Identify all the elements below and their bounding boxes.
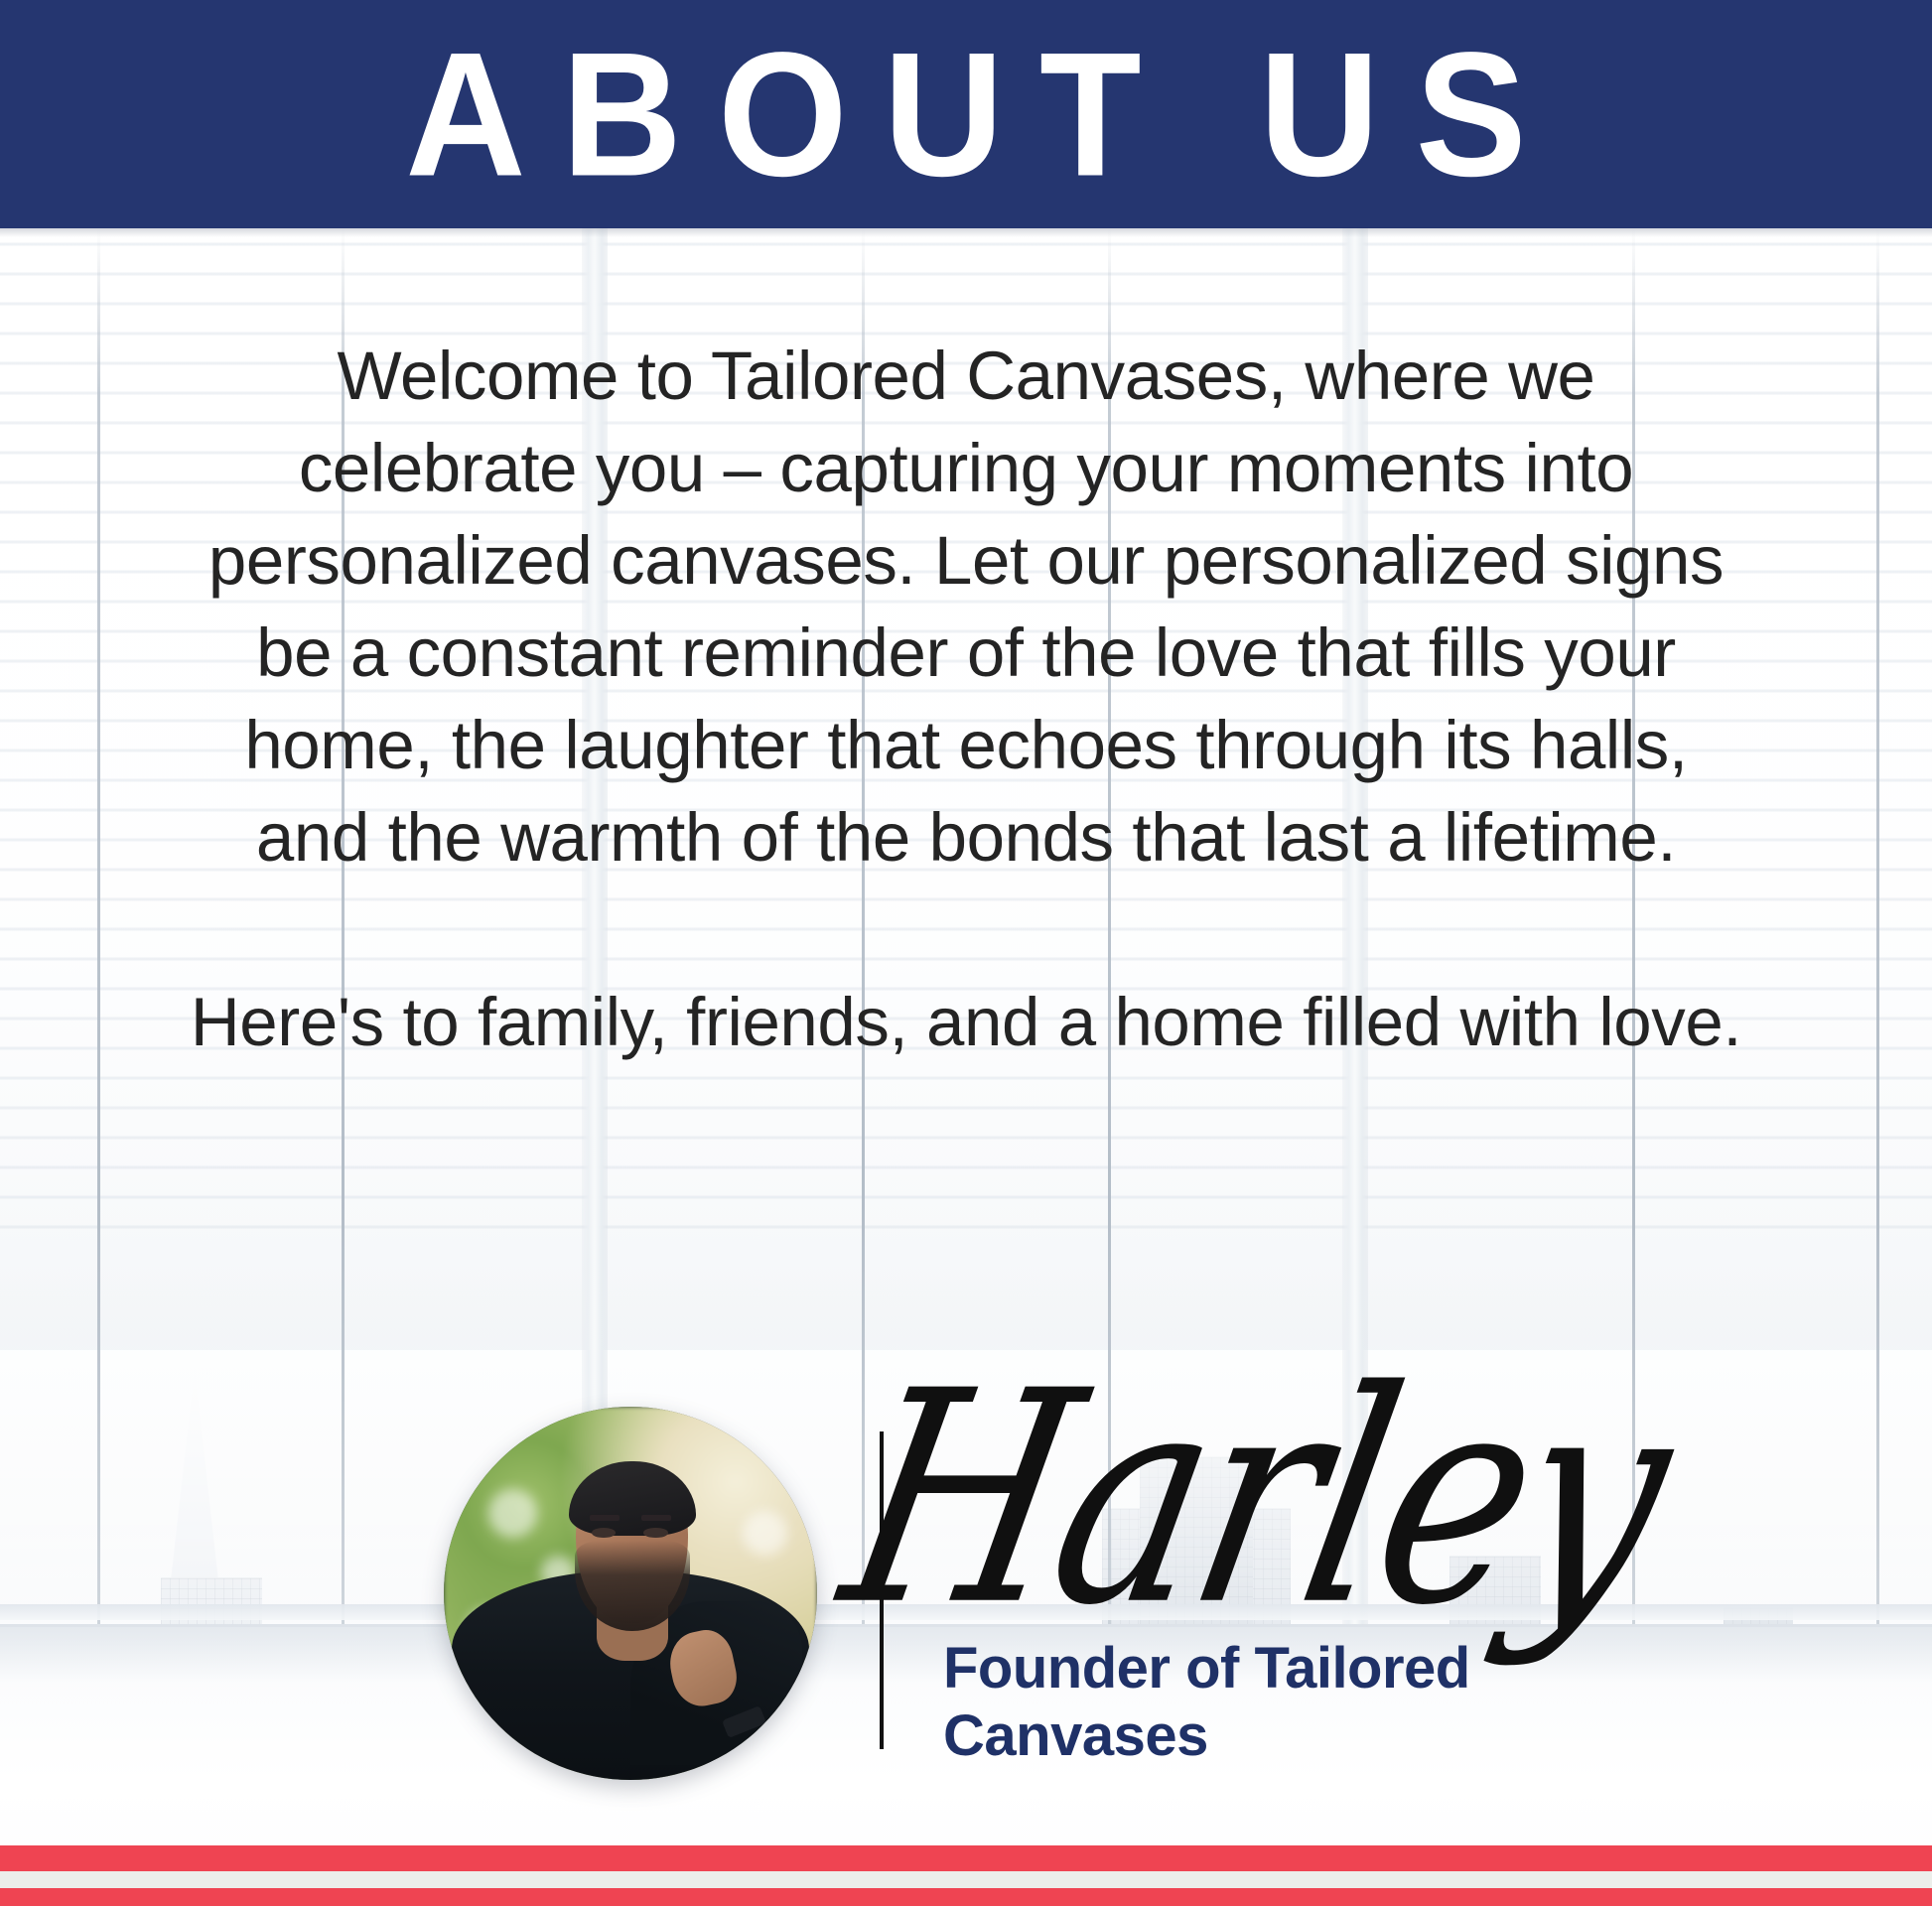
title-bar: ABOUT US — [0, 0, 1932, 228]
avatar-eye — [643, 1528, 667, 1538]
paragraph-1: Welcome to Tailored Canvases, where we c… — [189, 330, 1743, 884]
footer-accent-bar-bottom — [0, 1888, 1932, 1906]
avatar-eye — [592, 1528, 616, 1538]
paragraph-spacer — [189, 884, 1743, 976]
avatar-eyebrow — [590, 1515, 620, 1521]
bokeh-dot — [488, 1489, 537, 1538]
about-us-card: ABOUT US Welcome to Tailored Canvases, w… — [0, 0, 1932, 1906]
founder-title: Founder of Tailored Canvases — [943, 1635, 1579, 1770]
avatar-eyebrow — [641, 1515, 671, 1521]
bokeh-dot — [743, 1511, 787, 1556]
window-mullion — [97, 228, 100, 1628]
window-mullion — [1876, 228, 1879, 1628]
footer-bar-gap — [0, 1871, 1932, 1888]
avatar — [444, 1407, 817, 1780]
page-title: ABOUT US — [369, 26, 1562, 203]
about-us-copy: Welcome to Tailored Canvases, where we c… — [189, 330, 1743, 1068]
footer-accent-bar-top — [0, 1845, 1932, 1871]
signature-divider — [880, 1431, 884, 1749]
paragraph-2: Here's to family, friends, and a home fi… — [189, 976, 1743, 1068]
window-transom — [0, 1604, 1932, 1620]
